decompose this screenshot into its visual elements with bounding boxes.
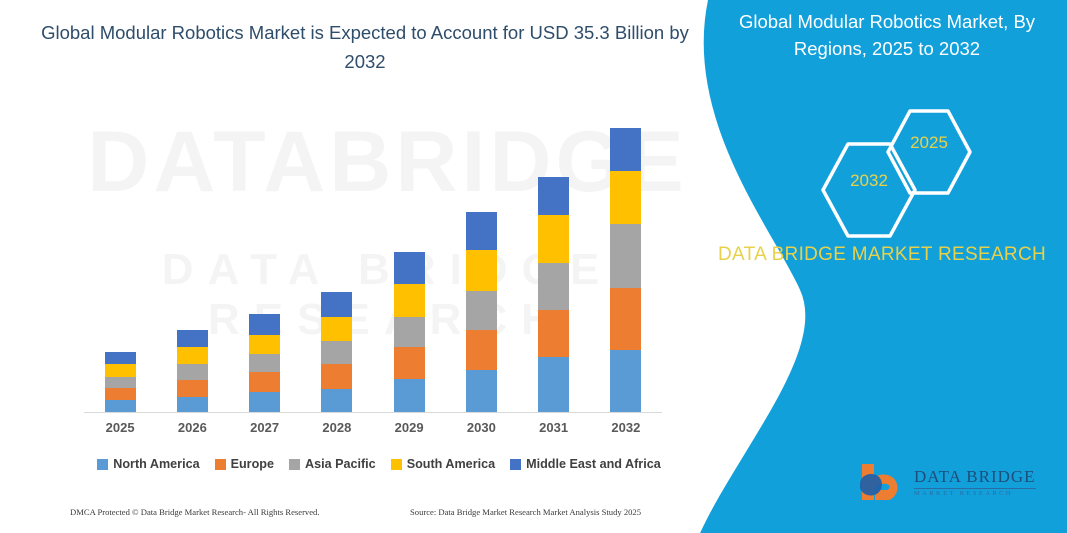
x-axis-tick-2031: 2031 — [518, 420, 590, 435]
bar-segment — [105, 377, 136, 388]
chart-legend: North AmericaEuropeAsia PacificSouth Ame… — [84, 457, 674, 471]
bar-segment — [321, 317, 352, 341]
stacked-bar-2027 — [249, 314, 280, 412]
brand-name-text: DATA BRIDGE MARKET RESEARCH — [697, 240, 1067, 269]
bar-column — [590, 118, 662, 412]
stacked-bar-2025 — [105, 352, 136, 412]
legend-label: North America — [113, 457, 199, 471]
bar-segment — [321, 389, 352, 412]
legend-item[interactable]: South America — [391, 457, 495, 471]
legend-swatch-icon — [510, 459, 521, 470]
bar-segment — [105, 352, 136, 364]
bar-column — [229, 118, 301, 412]
stacked-bar-chart — [84, 118, 662, 412]
bar-segment — [466, 291, 497, 330]
bar-segment — [249, 354, 280, 372]
legend-label: Asia Pacific — [305, 457, 376, 471]
legend-swatch-icon — [289, 459, 300, 470]
legend-label: South America — [407, 457, 495, 471]
bar-segment — [610, 224, 641, 288]
stacked-bar-2031 — [538, 177, 569, 412]
legend-item[interactable]: North America — [97, 457, 199, 471]
stacked-bar-2026 — [177, 330, 208, 412]
x-axis-tick-2029: 2029 — [373, 420, 445, 435]
right-blue-panel: Global Modular Robotics Market, By Regio… — [677, 0, 1067, 533]
legend-item[interactable]: Middle East and Africa — [510, 457, 661, 471]
data-bridge-mark-icon — [859, 462, 905, 504]
legend-label: Europe — [231, 457, 274, 471]
legend-swatch-icon — [215, 459, 226, 470]
bar-segment — [538, 177, 569, 215]
x-axis-tick-2025: 2025 — [84, 420, 156, 435]
legend-swatch-icon — [97, 459, 108, 470]
bar-column — [445, 118, 517, 412]
bar-segment — [538, 263, 569, 310]
bar-segment — [610, 171, 641, 224]
bar-segment — [177, 380, 208, 397]
bar-segment — [466, 370, 497, 412]
panel-title: Global Modular Robotics Market, By Regio… — [677, 8, 1067, 62]
hexagon-badge-2032: 2032 — [817, 138, 921, 247]
bar-segment — [538, 357, 569, 412]
bar-segment — [466, 212, 497, 250]
footer: DMCA Protected © Data Bridge Market Rese… — [70, 507, 690, 517]
bar-segment — [177, 347, 208, 364]
bar-segment — [105, 364, 136, 377]
logo-main-text: DATA BRIDGE — [914, 468, 1036, 485]
bar-segment — [321, 341, 352, 364]
bar-segment — [249, 335, 280, 354]
x-axis-tick-2030: 2030 — [445, 420, 517, 435]
stacked-bar-2030 — [466, 212, 497, 412]
bar-column — [301, 118, 373, 412]
chart-area: Global Modular Robotics Market is Expect… — [0, 0, 720, 533]
legend-swatch-icon — [391, 459, 402, 470]
bar-segment — [394, 347, 425, 379]
x-axis-tick-2026: 2026 — [156, 420, 228, 435]
x-axis-tick-2032: 2032 — [590, 420, 662, 435]
bar-segment — [538, 215, 569, 263]
stacked-bar-2028 — [321, 292, 352, 412]
bar-segment — [177, 397, 208, 412]
footer-copyright: DMCA Protected © Data Bridge Market Rese… — [70, 507, 410, 517]
bar-segment — [177, 364, 208, 380]
bar-segment — [394, 252, 425, 284]
bar-segment — [466, 250, 497, 291]
legend-item[interactable]: Asia Pacific — [289, 457, 376, 471]
stacked-bar-2029 — [394, 252, 425, 412]
bar-segment — [394, 317, 425, 347]
bar-segment — [321, 364, 352, 389]
bar-segment — [249, 372, 280, 392]
logo-text-block: DATA BRIDGE MARKET RESEARCH — [914, 468, 1036, 498]
bar-segment — [105, 388, 136, 400]
page-title: Global Modular Robotics Market is Expect… — [40, 18, 690, 76]
bar-segment — [610, 350, 641, 412]
bar-column — [373, 118, 445, 412]
infographic-canvas: Global Modular Robotics Market, By Regio… — [0, 0, 1067, 533]
bar-column — [156, 118, 228, 412]
stacked-bar-2032 — [610, 128, 641, 412]
bar-column — [84, 118, 156, 412]
hexagon-label-2032: 2032 — [817, 171, 921, 191]
bar-segment — [610, 288, 641, 350]
data-bridge-logo: DATA BRIDGE MARKET RESEARCH — [859, 462, 1036, 504]
footer-source: Source: Data Bridge Market Research Mark… — [410, 507, 690, 517]
bar-segment — [249, 392, 280, 412]
bar-segment — [394, 379, 425, 412]
bar-column — [518, 118, 590, 412]
bar-segment — [466, 330, 497, 370]
x-axis-labels: 20252026202720282029203020312032 — [84, 420, 662, 435]
x-axis-line — [84, 412, 662, 413]
bar-segment — [321, 292, 352, 317]
bar-segment — [249, 314, 280, 335]
logo-sub-text: MARKET RESEARCH — [914, 488, 1036, 498]
legend-item[interactable]: Europe — [215, 457, 274, 471]
x-axis-tick-2028: 2028 — [301, 420, 373, 435]
bar-segment — [394, 284, 425, 317]
x-axis-tick-2027: 2027 — [229, 420, 301, 435]
bar-segment — [538, 310, 569, 357]
legend-label: Middle East and Africa — [526, 457, 661, 471]
bar-segment — [610, 128, 641, 171]
bar-segment — [177, 330, 208, 347]
bar-segment — [105, 400, 136, 412]
